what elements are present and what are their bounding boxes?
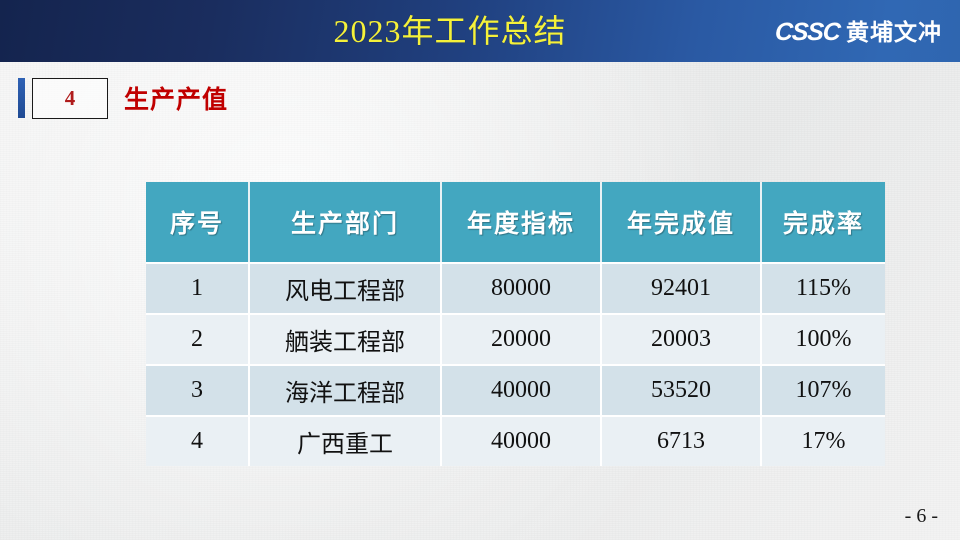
cell-target: 40000	[442, 364, 602, 415]
column-header-actual: 年完成值	[602, 182, 762, 262]
column-header-department: 生产部门	[250, 182, 442, 262]
table-row: 4 广西重工 40000 6713 17%	[146, 415, 885, 466]
section-number: 4	[65, 86, 76, 111]
cell-rate: 17%	[762, 415, 885, 466]
slide-header-bar: 2023年工作总结 CSSC 黄埔文冲	[0, 0, 960, 62]
table-row: 1 风电工程部 80000 92401 115%	[146, 262, 885, 313]
brand-name-text: 黄埔文冲	[846, 13, 942, 47]
cell-index: 4	[146, 415, 250, 466]
section-accent-bar-icon	[18, 78, 25, 118]
column-header-rate: 完成率	[762, 182, 885, 262]
cell-target: 20000	[442, 313, 602, 364]
cell-rate: 107%	[762, 364, 885, 415]
cell-actual: 53520	[602, 364, 762, 415]
table-header: 序号 生产部门 年度指标 年完成值 完成率	[146, 182, 885, 262]
column-header-target: 年度指标	[442, 182, 602, 262]
cell-target: 40000	[442, 415, 602, 466]
production-table: 序号 生产部门 年度指标 年完成值 完成率 1 风电工程部 80000 9240…	[146, 182, 885, 466]
cell-department: 风电工程部	[250, 262, 442, 313]
table-row: 2 舾装工程部 20000 20003 100%	[146, 313, 885, 364]
slide-canvas: 2023年工作总结 CSSC 黄埔文冲 4 生产产值 序号 生产部门	[0, 0, 960, 540]
cell-target: 80000	[442, 262, 602, 313]
production-table-container: 序号 生产部门 年度指标 年完成值 完成率 1 风电工程部 80000 9240…	[146, 182, 885, 466]
table-row: 3 海洋工程部 40000 53520 107%	[146, 364, 885, 415]
page-number: - 6 -	[905, 505, 938, 528]
cell-department: 舾装工程部	[250, 313, 442, 364]
cell-index: 2	[146, 313, 250, 364]
section-heading: 4 生产产值	[0, 74, 228, 122]
cell-actual: 92401	[602, 262, 762, 313]
cell-department: 广西重工	[250, 415, 442, 466]
column-header-index: 序号	[146, 182, 250, 262]
section-number-box: 4	[32, 78, 108, 119]
section-title: 生产产值	[124, 80, 228, 116]
cell-rate: 115%	[762, 262, 885, 313]
brand-mark-text: CSSC	[774, 18, 841, 47]
cell-index: 1	[146, 262, 250, 313]
cell-rate: 100%	[762, 313, 885, 364]
cssc-brand-logo: CSSC 黄埔文冲	[775, 13, 942, 47]
cell-actual: 6713	[602, 415, 762, 466]
table-body: 1 风电工程部 80000 92401 115% 2 舾装工程部 20000 2…	[146, 262, 885, 466]
table-header-row: 序号 生产部门 年度指标 年完成值 完成率	[146, 182, 885, 262]
cell-index: 3	[146, 364, 250, 415]
cell-department: 海洋工程部	[250, 364, 442, 415]
cell-actual: 20003	[602, 313, 762, 364]
